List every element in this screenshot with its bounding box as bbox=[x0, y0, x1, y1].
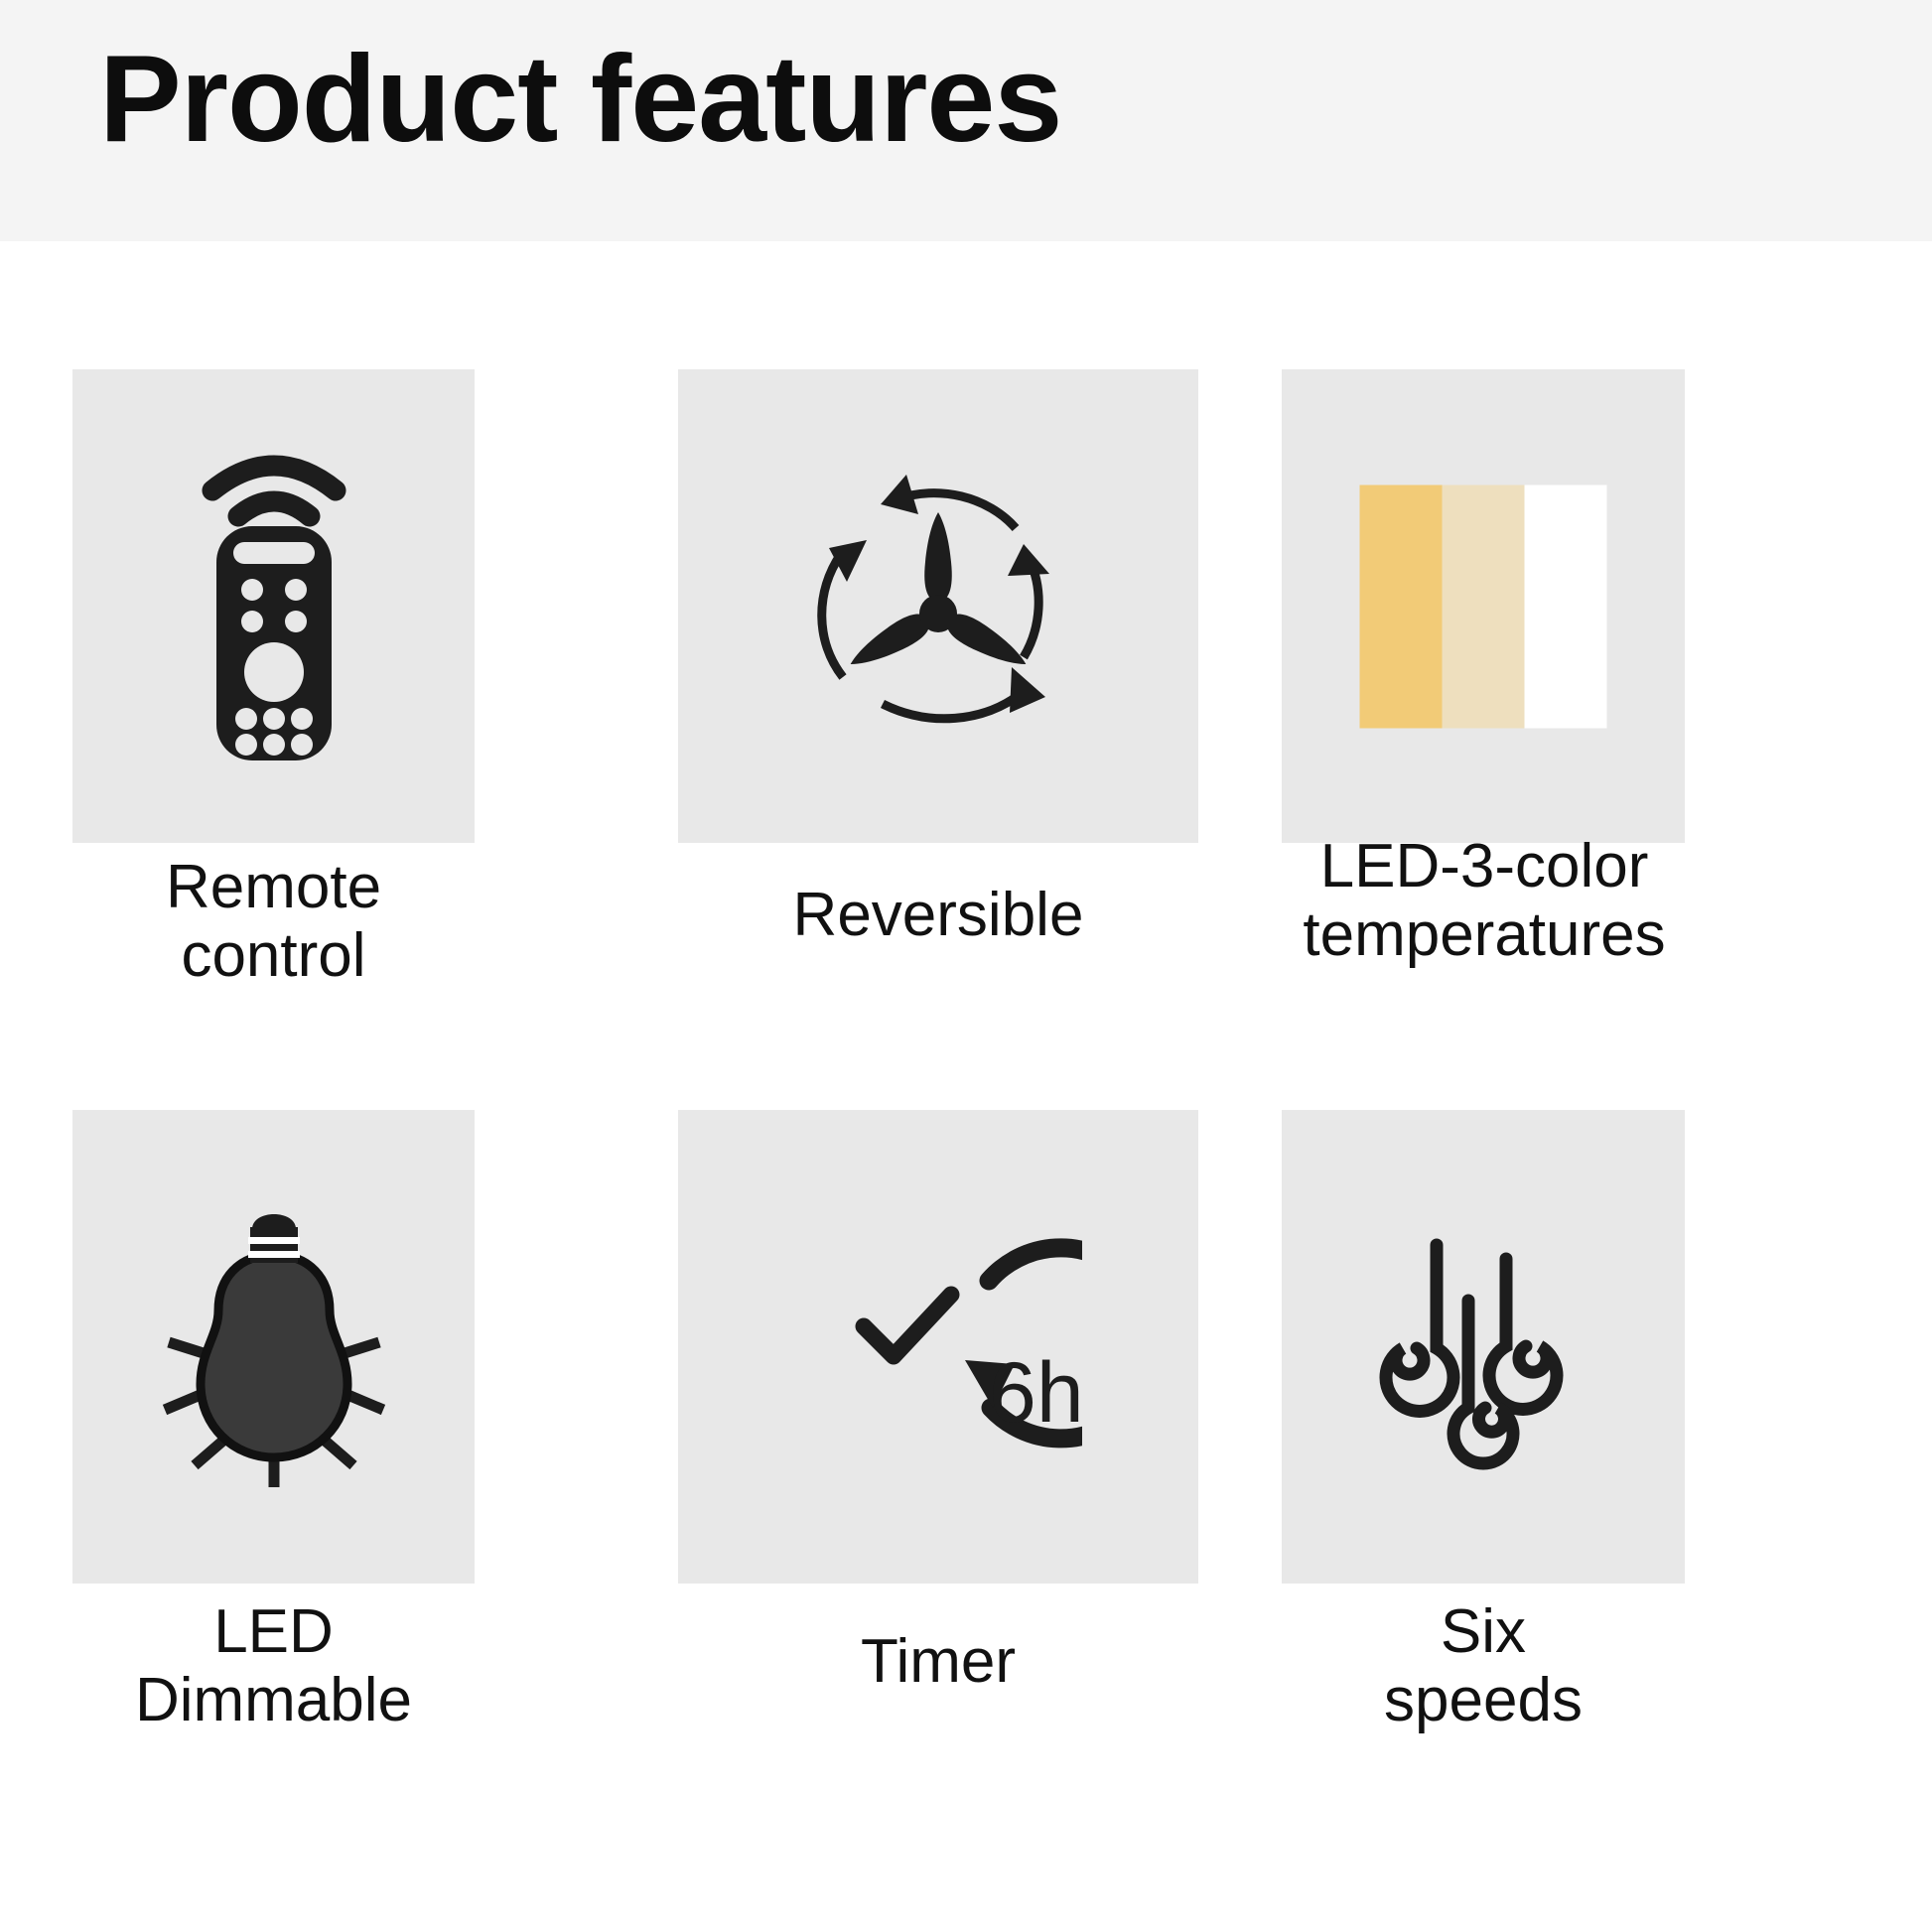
feature-label-led-dimmable: LED Dimmable bbox=[72, 1597, 475, 1735]
timer-duration-label: 6h bbox=[989, 1345, 1082, 1441]
feature-label-reversible: Reversible bbox=[678, 881, 1198, 949]
feature-grid: Remote control bbox=[0, 241, 1932, 1932]
icon-tile-led-dimmable bbox=[72, 1110, 475, 1584]
header-band: Product features bbox=[0, 0, 1932, 241]
icon-tile-reversible bbox=[678, 369, 1198, 843]
timer-clock-icon: 6h bbox=[794, 1223, 1082, 1471]
page-title: Product features bbox=[99, 32, 1061, 167]
feature-label-six-speeds: Six speeds bbox=[1282, 1597, 1685, 1735]
icon-tile-led-color-temperatures bbox=[1282, 369, 1685, 843]
icon-tile-six-speeds bbox=[1282, 1110, 1685, 1584]
remote-control-icon bbox=[155, 443, 393, 770]
icon-tile-remote-control bbox=[72, 369, 475, 843]
light-bulb-dimmable-icon bbox=[135, 1193, 413, 1501]
feature-label-remote-control: Remote control bbox=[72, 853, 475, 991]
reversible-fan-icon bbox=[789, 463, 1087, 751]
swatch-neutral-cream bbox=[1443, 484, 1525, 728]
swatch-warm-yellow bbox=[1360, 484, 1443, 728]
airflow-swirls-icon bbox=[1359, 1223, 1607, 1471]
feature-label-timer: Timer bbox=[678, 1627, 1198, 1696]
icon-tile-timer: 6h bbox=[678, 1110, 1198, 1584]
color-temperature-swatches-icon bbox=[1360, 484, 1607, 728]
swatch-cool-white bbox=[1525, 484, 1607, 728]
feature-label-led-color-temperatures: LED-3-color temperatures bbox=[1246, 832, 1723, 970]
